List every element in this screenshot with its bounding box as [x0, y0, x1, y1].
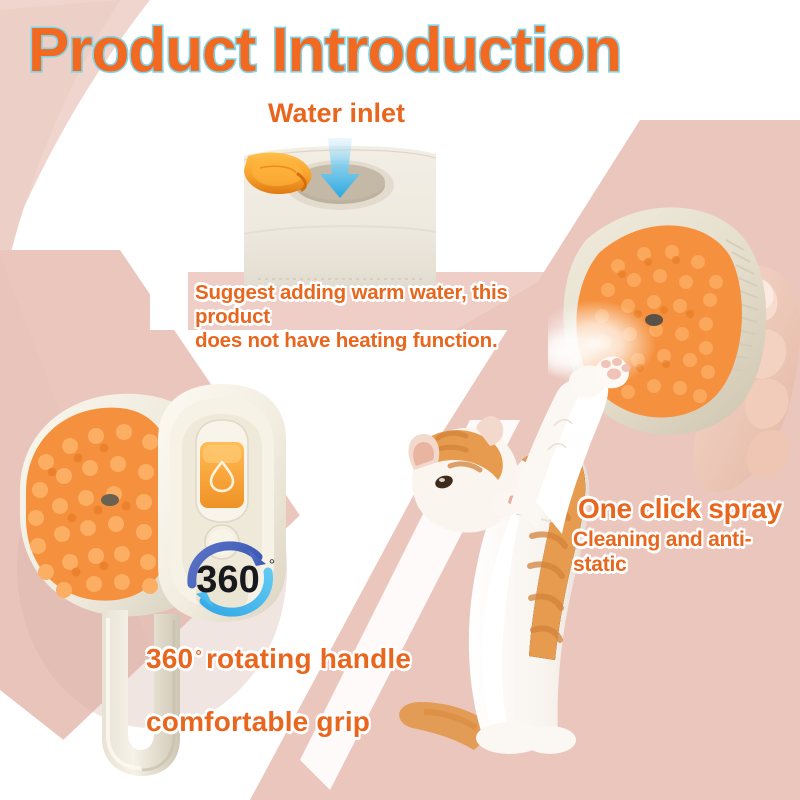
- rotating-handle-text: rotating handle: [206, 643, 411, 674]
- page-title-text: Product Introduction: [28, 16, 621, 85]
- rotation-badge-degree: °: [269, 557, 275, 574]
- spray-button[interactable]: [200, 442, 244, 508]
- rotating-handle-caption: 360°rotating handle comfortable grip: [146, 612, 411, 737]
- one-click-spray-headline: One click spray: [578, 492, 782, 525]
- water-inlet-photo: [244, 138, 436, 288]
- page-title: Product Introduction: [28, 14, 648, 88]
- rotating-handle-number: 360: [146, 643, 193, 674]
- product-introduction-infographic: Product Introduction: [0, 0, 800, 800]
- rotating-handle-line2: comfortable grip: [146, 706, 370, 737]
- one-click-spray-subline: Cleaning and anti-static: [573, 528, 800, 578]
- rotation-badge: 360 °: [178, 536, 284, 622]
- rotating-handle-degree: °: [193, 648, 206, 665]
- water-inlet-label: Water inlet: [268, 98, 405, 129]
- rotation-badge-value: 360: [196, 559, 259, 601]
